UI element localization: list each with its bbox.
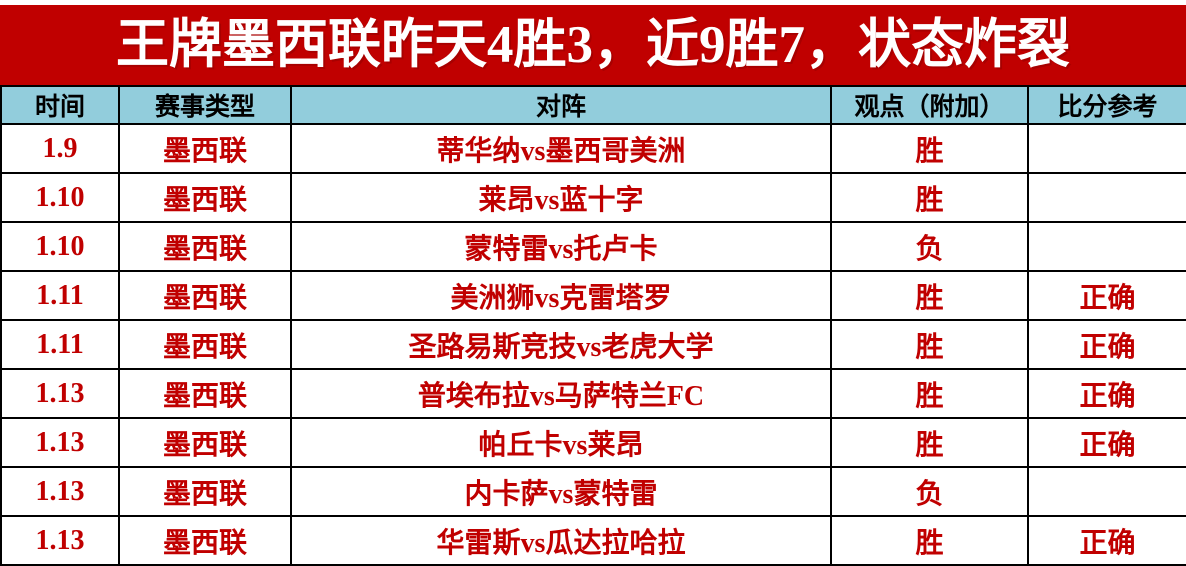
cell-opinion: 胜 [831, 418, 1028, 467]
cell-league: 墨西联 [119, 369, 291, 418]
cell-score-reference [1028, 222, 1186, 271]
cell-league: 墨西联 [119, 320, 291, 369]
cell-league: 墨西联 [119, 173, 291, 222]
cell-time: 1.13 [1, 467, 119, 516]
page-title: 王牌墨西联昨天4胜3，近9胜7，状态炸裂 [116, 19, 1070, 72]
cell-match: 蒙特雷vs托卢卡 [291, 222, 831, 271]
cell-score-reference: 正确 [1028, 320, 1186, 369]
cell-opinion: 胜 [831, 271, 1028, 320]
table-row: 1.13墨西联普埃布拉vs马萨特兰FC胜正确 [1, 369, 1186, 418]
cell-opinion: 胜 [831, 369, 1028, 418]
cell-match: 华雷斯vs瓜达拉哈拉 [291, 516, 831, 565]
cell-score-reference: 正确 [1028, 369, 1186, 418]
cell-score-reference: 正确 [1028, 271, 1186, 320]
cell-league: 墨西联 [119, 271, 291, 320]
cell-league: 墨西联 [119, 222, 291, 271]
cell-score-reference [1028, 124, 1186, 173]
cell-match: 帕丘卡vs莱昂 [291, 418, 831, 467]
table-row: 1.11墨西联美洲狮vs克雷塔罗胜正确 [1, 271, 1186, 320]
predictions-table: 时间 赛事类型 对阵 观点（附加） 比分参考 1.9墨西联蒂华纳vs墨西哥美洲胜… [0, 85, 1186, 566]
cell-score-reference: 正确 [1028, 418, 1186, 467]
table-body: 1.9墨西联蒂华纳vs墨西哥美洲胜1.10墨西联莱昂vs蓝十字胜1.10墨西联蒙… [1, 124, 1186, 565]
cell-time: 1.13 [1, 418, 119, 467]
cell-time: 1.13 [1, 516, 119, 565]
cell-league: 墨西联 [119, 467, 291, 516]
cell-opinion: 负 [831, 467, 1028, 516]
table-header: 时间 赛事类型 对阵 观点（附加） 比分参考 [1, 86, 1186, 124]
cell-opinion: 胜 [831, 516, 1028, 565]
cell-opinion: 负 [831, 222, 1028, 271]
cell-opinion: 胜 [831, 320, 1028, 369]
cell-score-reference: 正确 [1028, 516, 1186, 565]
cell-match: 美洲狮vs克雷塔罗 [291, 271, 831, 320]
column-header-time: 时间 [1, 86, 119, 124]
cell-league: 墨西联 [119, 516, 291, 565]
cell-time: 1.10 [1, 222, 119, 271]
cell-opinion: 胜 [831, 124, 1028, 173]
cell-match: 圣路易斯竞技vs老虎大学 [291, 320, 831, 369]
cell-time: 1.11 [1, 271, 119, 320]
column-header-match: 对阵 [291, 86, 831, 124]
table-row: 1.13墨西联帕丘卡vs莱昂胜正确 [1, 418, 1186, 467]
cell-match: 普埃布拉vs马萨特兰FC [291, 369, 831, 418]
table-row: 1.10墨西联蒙特雷vs托卢卡负 [1, 222, 1186, 271]
cell-time: 1.13 [1, 369, 119, 418]
cell-match: 蒂华纳vs墨西哥美洲 [291, 124, 831, 173]
table-row: 1.13墨西联华雷斯vs瓜达拉哈拉胜正确 [1, 516, 1186, 565]
cell-league: 墨西联 [119, 124, 291, 173]
table-header-row: 时间 赛事类型 对阵 观点（附加） 比分参考 [1, 86, 1186, 124]
column-header-view: 观点（附加） [831, 86, 1028, 124]
cell-opinion: 胜 [831, 173, 1028, 222]
table-row: 1.9墨西联蒂华纳vs墨西哥美洲胜 [1, 124, 1186, 173]
title-banner: 王牌墨西联昨天4胜3，近9胜7，状态炸裂 [0, 5, 1186, 85]
cell-score-reference [1028, 467, 1186, 516]
table-row: 1.10墨西联莱昂vs蓝十字胜 [1, 173, 1186, 222]
column-header-score: 比分参考 [1028, 86, 1186, 124]
cell-match: 莱昂vs蓝十字 [291, 173, 831, 222]
column-header-league: 赛事类型 [119, 86, 291, 124]
cell-match: 内卡萨vs蒙特雷 [291, 467, 831, 516]
table-row: 1.13墨西联内卡萨vs蒙特雷负 [1, 467, 1186, 516]
page-root: 王牌墨西联昨天4胜3，近9胜7，状态炸裂 时间 赛事类型 对阵 观点（附加） 比… [0, 0, 1186, 562]
table-row: 1.11墨西联圣路易斯竞技vs老虎大学胜正确 [1, 320, 1186, 369]
cell-time: 1.11 [1, 320, 119, 369]
cell-league: 墨西联 [119, 418, 291, 467]
cell-score-reference [1028, 173, 1186, 222]
cell-time: 1.9 [1, 124, 119, 173]
cell-time: 1.10 [1, 173, 119, 222]
